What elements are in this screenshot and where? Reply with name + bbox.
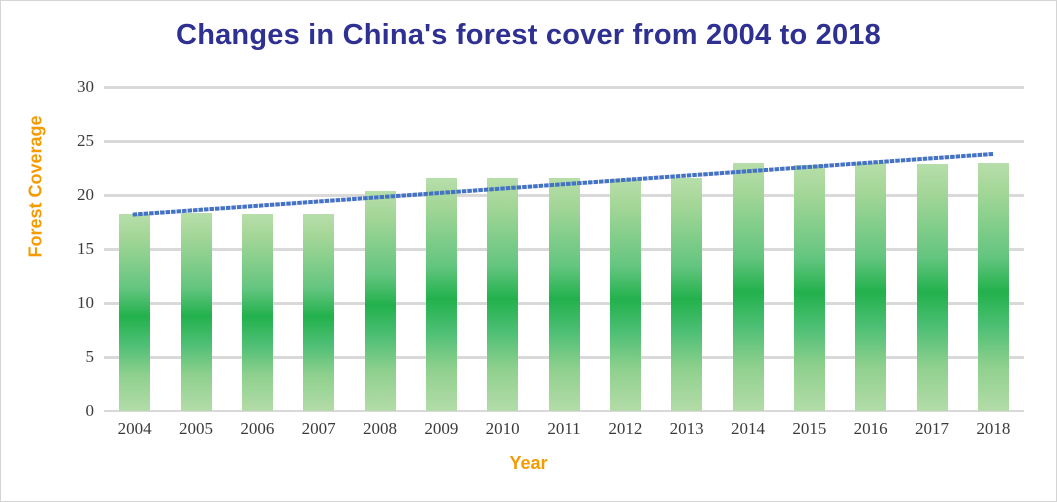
x-tick-label: 2017 [915, 419, 949, 439]
y-axis-tick-labels: 051015202530 [49, 87, 94, 411]
x-tick-label: 2013 [670, 419, 704, 439]
x-tick-label: 2016 [854, 419, 888, 439]
bar [242, 214, 273, 411]
bar [794, 165, 825, 411]
x-tick-label: 2008 [363, 419, 397, 439]
x-tick-label: 2014 [731, 419, 765, 439]
x-axis-tick-labels: 2004200520062007200820092010201120122013… [104, 419, 1024, 445]
x-tick-label: 2018 [976, 419, 1010, 439]
bar [303, 214, 334, 411]
bar [610, 179, 641, 411]
x-tick-label: 2012 [608, 419, 642, 439]
x-tick-label: 2009 [424, 419, 458, 439]
bar [733, 163, 764, 411]
y-tick-label: 0 [54, 401, 94, 421]
y-tick-label: 5 [54, 347, 94, 367]
x-tick-label: 2004 [118, 419, 152, 439]
y-tick-label: 10 [54, 293, 94, 313]
y-tick-label: 20 [54, 185, 94, 205]
x-tick-label: 2010 [486, 419, 520, 439]
bar [917, 164, 948, 411]
chart-container: Changes in China's forest cover from 200… [0, 0, 1057, 502]
x-axis-title: Year [1, 453, 1056, 474]
chart-title: Changes in China's forest cover from 200… [1, 19, 1056, 52]
x-tick-label: 2011 [547, 419, 580, 439]
bar [549, 178, 580, 411]
x-tick-label: 2005 [179, 419, 213, 439]
y-axis-title: Forest Coverage [26, 92, 47, 282]
x-tick-label: 2006 [240, 419, 274, 439]
bar [426, 178, 457, 411]
bar [365, 191, 396, 411]
bar [671, 178, 702, 411]
gridline [104, 140, 1024, 143]
bar [181, 213, 212, 411]
bar [487, 178, 518, 411]
plot-area [104, 87, 1024, 411]
bar [119, 214, 150, 411]
y-tick-label: 25 [54, 131, 94, 151]
gridline [104, 86, 1024, 89]
bar [978, 163, 1009, 411]
x-tick-label: 2015 [792, 419, 826, 439]
x-tick-label: 2007 [302, 419, 336, 439]
y-tick-label: 30 [54, 77, 94, 97]
y-tick-label: 15 [54, 239, 94, 259]
bar [855, 163, 886, 411]
